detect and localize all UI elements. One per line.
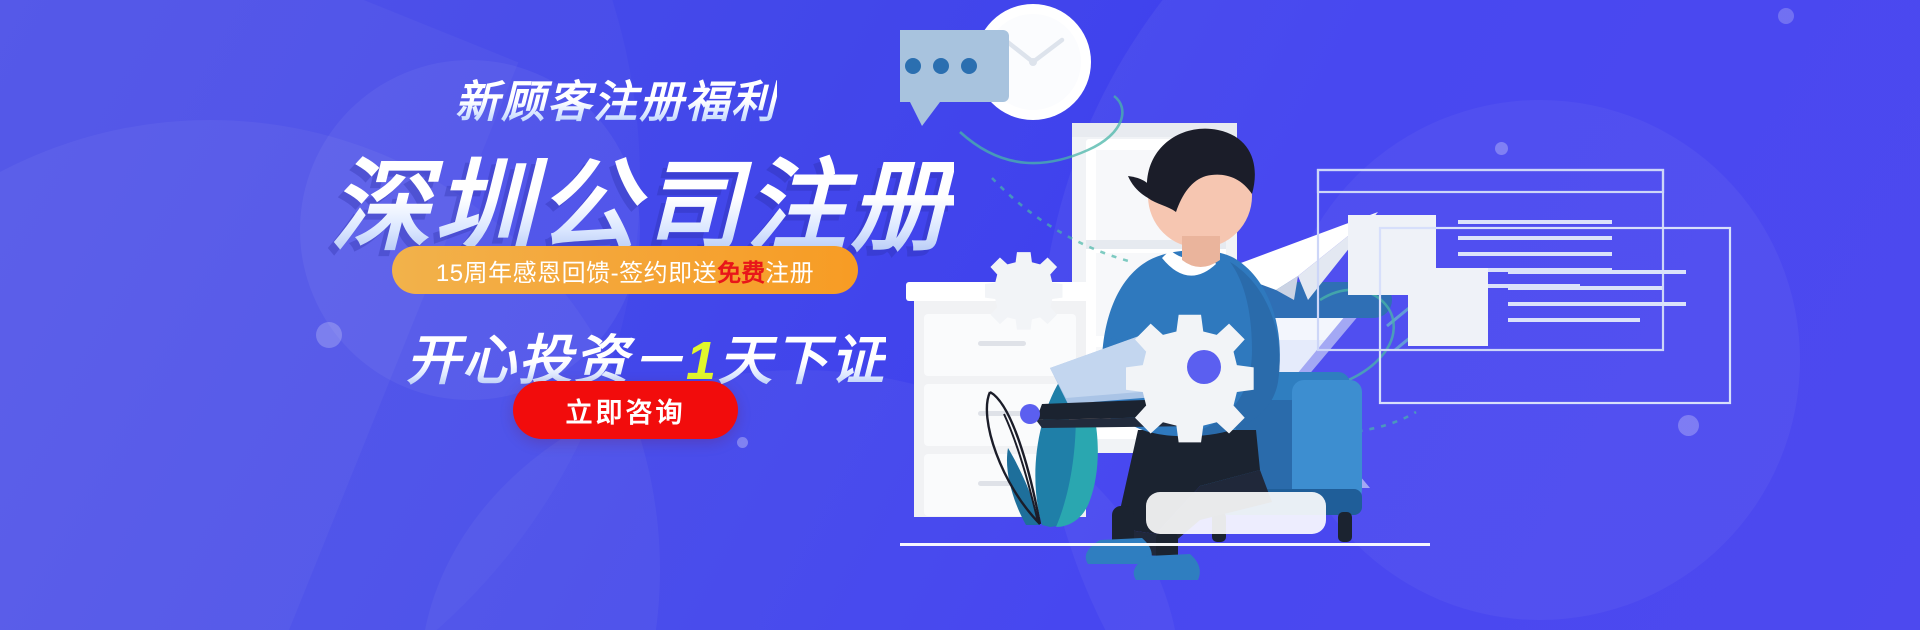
copy-block: 新顾客注册福利 深圳公司注册 15周年感恩回馈-签约即送免费注册 开心投资－1天… (0, 0, 960, 630)
promo-banner: 新顾客注册福利 深圳公司注册 15周年感恩回馈-签约即送免费注册 开心投资－1天… (0, 0, 1920, 630)
offer-badge-suffix: 注册 (765, 253, 814, 288)
hero-illustration (900, 0, 1920, 630)
consult-now-button[interactable]: 立即咨询 (513, 381, 738, 439)
offer-badge-prefix: 15周年感恩回馈-签约即送 (436, 253, 717, 288)
consult-now-label: 立即咨询 (566, 391, 686, 430)
tagline-after: 天下证 (718, 331, 886, 391)
document-card-one (1318, 170, 1663, 350)
offer-badge: 15周年感恩回馈-签约即送免费注册 (392, 246, 858, 294)
offer-badge-highlight: 免费 (717, 253, 765, 288)
kicker-text: 新顾客注册福利 (455, 66, 777, 130)
